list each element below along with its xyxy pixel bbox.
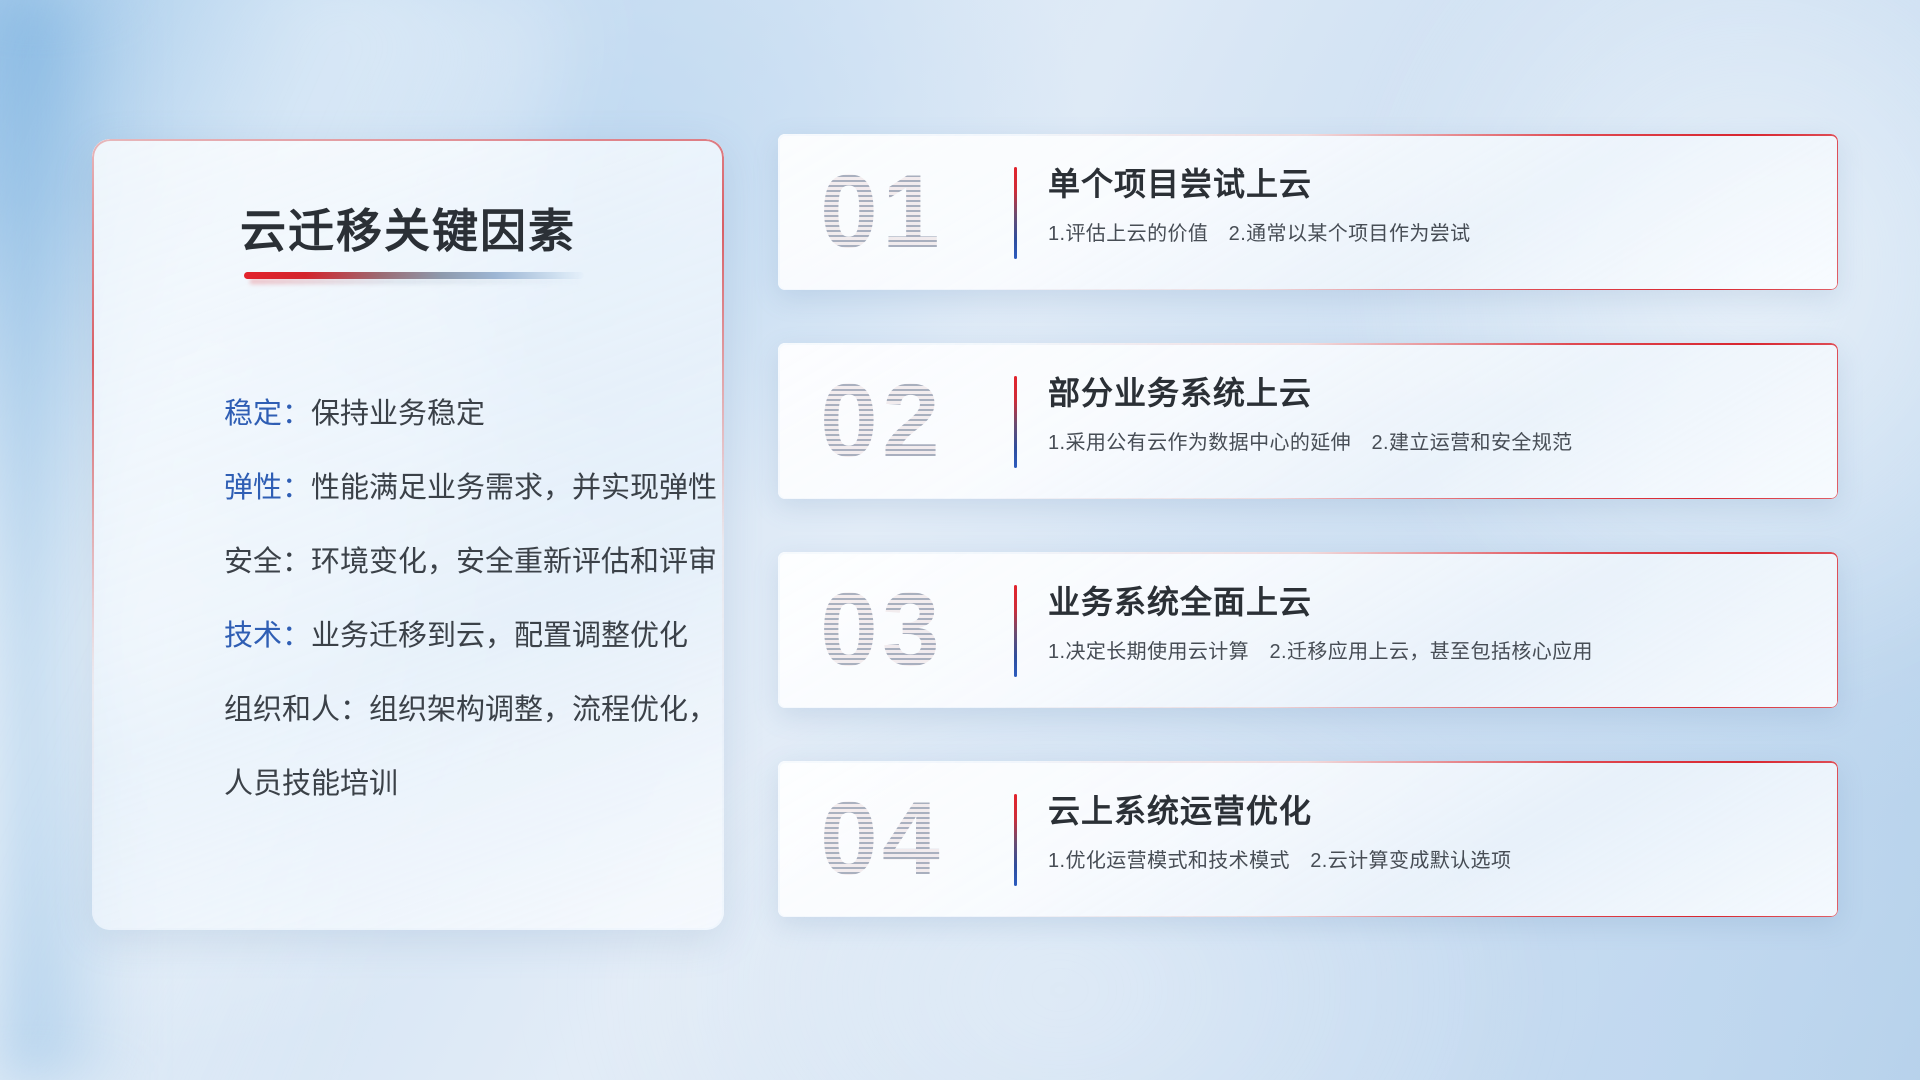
key-factor-label: 稳定：	[224, 398, 311, 430]
stage-card-body: 单个项目尝试上云1.评估上云的价值 2.通常以某个项目作为尝试	[1048, 162, 1812, 248]
page-title: 云迁移关键因素	[92, 195, 724, 261]
stage-card-body: 部分业务系统上云1.采用公有云作为数据中心的延伸 2.建立运营和安全规范	[1048, 371, 1812, 457]
stage-card[interactable]: 0303业务系统全面上云1.决定长期使用云计算 2.迁移应用上云，甚至包括核心应…	[778, 552, 1838, 708]
slide-canvas: 云迁移关键因素 稳定：保持业务稳定弹性：性能满足业务需求，并实现弹性安全：环境变…	[0, 0, 1920, 1080]
stage-cards-list: 0101单个项目尝试上云1.评估上云的价值 2.通常以某个项目作为尝试0202部…	[778, 134, 1838, 970]
key-factor-text: 组织架构调整，流程优化，	[369, 694, 717, 726]
stage-number: 04	[820, 777, 992, 901]
key-factor-item: 人员技能培训	[224, 747, 684, 821]
key-factor-text: 业务迁移到云，配置调整优化	[311, 620, 688, 652]
stage-number: 01	[820, 150, 992, 274]
key-factor-item: 安全：环境变化，安全重新评估和评审	[224, 525, 684, 599]
key-factor-text: 人员技能培训	[224, 768, 398, 800]
stage-card-description: 1.决定长期使用云计算 2.迁移应用上云，甚至包括核心应用	[1048, 638, 1812, 666]
key-factor-label: 弹性：	[224, 472, 311, 504]
stage-card-description: 1.优化运营模式和技术模式 2.云计算变成默认选项	[1048, 847, 1812, 875]
key-factors-panel: 云迁移关键因素 稳定：保持业务稳定弹性：性能满足业务需求，并实现弹性安全：环境变…	[92, 139, 724, 930]
key-factor-label: 组织和人：	[224, 694, 369, 726]
stage-number: 02	[820, 359, 992, 483]
key-factor-item: 弹性：性能满足业务需求，并实现弹性	[224, 451, 684, 525]
stage-card-description: 1.评估上云的价值 2.通常以某个项目作为尝试	[1048, 220, 1812, 248]
stage-card-title: 业务系统全面上云	[1048, 580, 1812, 624]
title-underline-gradient	[244, 272, 584, 279]
stage-card-description: 1.采用公有云作为数据中心的延伸 2.建立运营和安全规范	[1048, 429, 1812, 457]
stage-card-body: 业务系统全面上云1.决定长期使用云计算 2.迁移应用上云，甚至包括核心应用	[1048, 580, 1812, 666]
key-factor-label: 安全：	[224, 546, 311, 578]
key-factor-text: 性能满足业务需求，并实现弹性	[311, 472, 717, 504]
accent-divider-bar	[1014, 585, 1017, 677]
key-factor-item: 组织和人：组织架构调整，流程优化，	[224, 673, 684, 747]
key-factor-item: 稳定：保持业务稳定	[224, 377, 684, 451]
key-factor-text: 环境变化，安全重新评估和评审	[311, 546, 717, 578]
stage-card-title: 部分业务系统上云	[1048, 371, 1812, 415]
accent-divider-bar	[1014, 167, 1017, 259]
key-factor-item: 技术：业务迁移到云，配置调整优化	[224, 599, 684, 673]
accent-divider-bar	[1014, 376, 1017, 468]
accent-divider-bar	[1014, 794, 1017, 886]
stage-card[interactable]: 0101单个项目尝试上云1.评估上云的价值 2.通常以某个项目作为尝试	[778, 134, 1838, 290]
key-factors-list: 稳定：保持业务稳定弹性：性能满足业务需求，并实现弹性安全：环境变化，安全重新评估…	[224, 377, 684, 821]
stage-card[interactable]: 0202部分业务系统上云1.采用公有云作为数据中心的延伸 2.建立运营和安全规范	[778, 343, 1838, 499]
key-factor-label: 技术：	[224, 620, 311, 652]
stage-card-title: 单个项目尝试上云	[1048, 162, 1812, 206]
key-factor-text: 保持业务稳定	[311, 398, 485, 430]
stage-card-title: 云上系统运营优化	[1048, 789, 1812, 833]
stage-card-body: 云上系统运营优化1.优化运营模式和技术模式 2.云计算变成默认选项	[1048, 789, 1812, 875]
stage-card[interactable]: 0404云上系统运营优化1.优化运营模式和技术模式 2.云计算变成默认选项	[778, 761, 1838, 917]
stage-number: 03	[820, 568, 992, 692]
